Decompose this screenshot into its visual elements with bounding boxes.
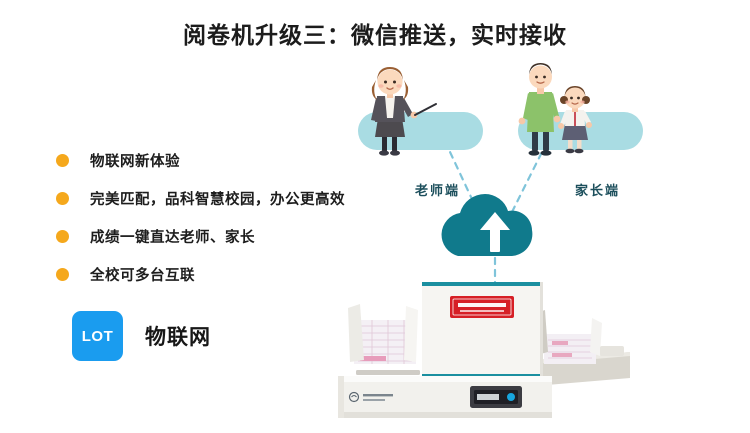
parent-pill-label: 家长端 bbox=[575, 180, 620, 199]
connector-cloud-parent bbox=[512, 152, 542, 212]
teacher-pill-label: 老师端 bbox=[415, 180, 460, 199]
page-title: 阅卷机升级三：微信推送，实时接收 bbox=[0, 16, 750, 50]
bullet-dot-icon bbox=[56, 230, 69, 243]
tray-guide-left-b bbox=[404, 306, 418, 362]
list-item: 物联网新体验 bbox=[56, 141, 356, 179]
bullet-dot-icon bbox=[56, 154, 69, 167]
cloud-icon bbox=[442, 194, 533, 256]
list-item-label: 全校可多台互联 bbox=[90, 264, 195, 285]
paper-stack-right bbox=[544, 334, 596, 364]
feature-bullet-list: 物联网新体验 完美匹配，品科智慧校园，办公更高效 成绩一键直达老师、家长 全校可… bbox=[56, 141, 356, 293]
list-item-label: 完美匹配，品科智慧校园，办公更高效 bbox=[90, 188, 345, 209]
teacher-node bbox=[358, 67, 483, 156]
bullet-dot-icon bbox=[56, 192, 69, 205]
diagram-canvas bbox=[330, 60, 750, 433]
network-diagram: 老师端 家长端 bbox=[330, 60, 750, 433]
iot-badge-group: LOT 物联网 bbox=[72, 311, 211, 361]
omr-scanner-machine bbox=[338, 282, 630, 418]
parent-node bbox=[518, 63, 643, 156]
list-item-label: 物联网新体验 bbox=[90, 150, 180, 171]
tray-guide-left-a bbox=[348, 304, 364, 362]
list-item: 完美匹配，品科智慧校园，办公更高效 bbox=[56, 179, 356, 217]
list-item: 成绩一键直达老师、家长 bbox=[56, 217, 356, 255]
iot-label: 物联网 bbox=[145, 321, 211, 351]
control-display bbox=[470, 386, 522, 408]
brand-label bbox=[450, 296, 514, 318]
iot-badge-icon: LOT bbox=[72, 311, 123, 361]
feed-slot bbox=[356, 370, 420, 375]
list-item: 全校可多台互联 bbox=[56, 255, 356, 293]
bullet-dot-icon bbox=[56, 268, 69, 281]
list-item-label: 成绩一键直达老师、家长 bbox=[90, 226, 255, 247]
